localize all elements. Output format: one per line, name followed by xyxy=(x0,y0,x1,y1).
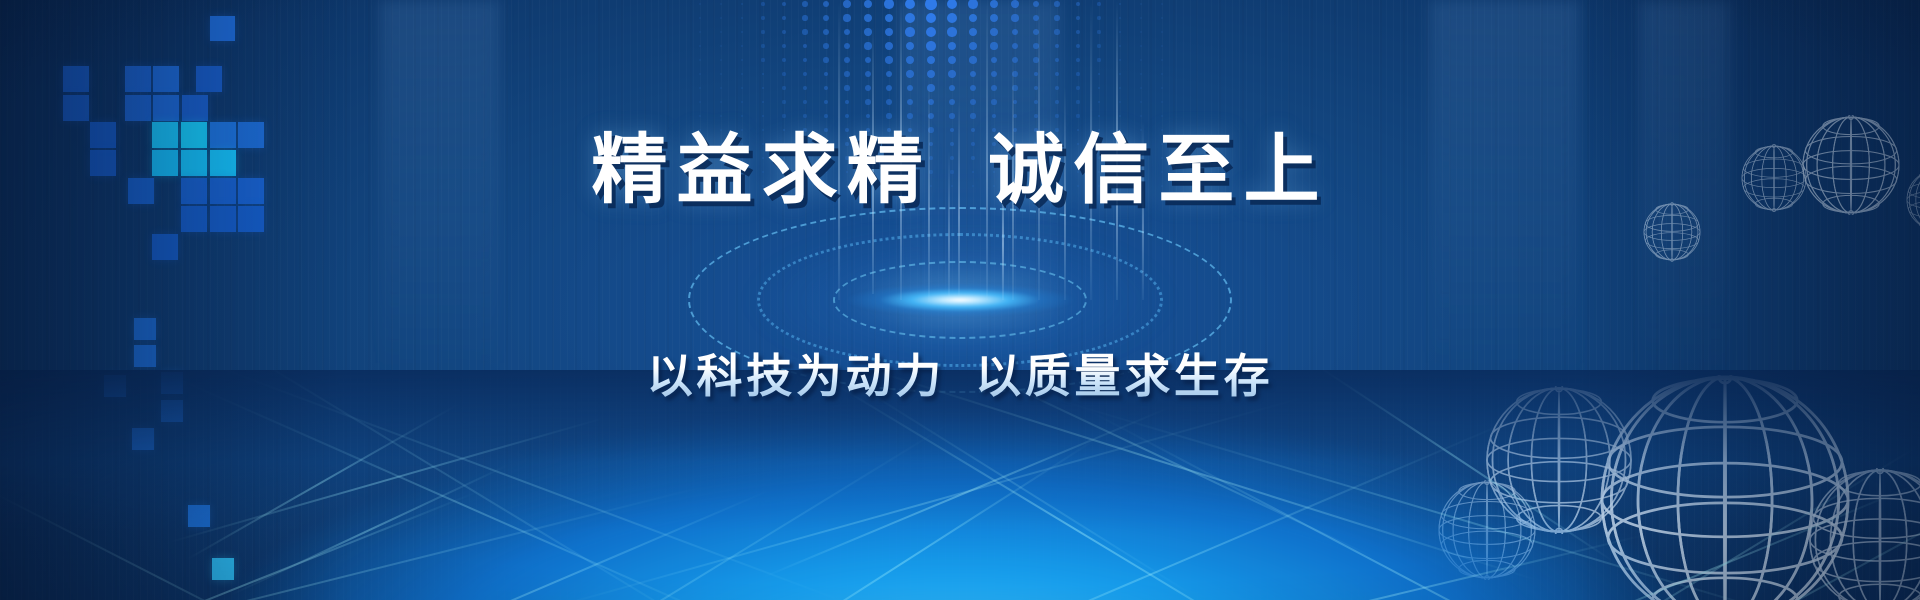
mosaic-square xyxy=(134,318,156,340)
mosaic-square xyxy=(132,428,154,450)
pixel-mosaic-bottom xyxy=(0,0,400,600)
subheadline: 以科技为动力 以质量求生存 xyxy=(0,340,1920,406)
headline: 精益求精 诚信至上 xyxy=(0,108,1920,218)
tech-banner: 精益求精 诚信至上 以科技为动力 以质量求生存 xyxy=(0,0,1920,600)
mosaic-square xyxy=(212,558,234,580)
mosaic-square xyxy=(188,505,210,527)
